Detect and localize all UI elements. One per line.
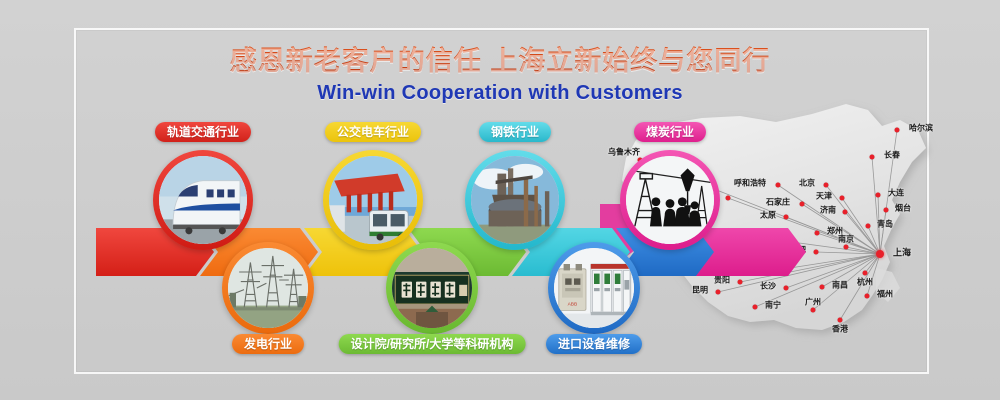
industry-circle-bus[interactable] bbox=[323, 150, 423, 250]
city-dot-hub bbox=[876, 250, 884, 258]
industry-photo-steel bbox=[471, 156, 559, 244]
city-label-hub: 上海 bbox=[893, 246, 911, 259]
bus-china-pavilion-photo bbox=[329, 156, 417, 244]
city-dot bbox=[726, 196, 731, 201]
city-label: 南京 bbox=[838, 234, 854, 245]
industry-circle-steel[interactable] bbox=[465, 150, 565, 250]
industry-label-bus: 公交电车行业 bbox=[325, 122, 421, 142]
banner-titles: 感恩新老客户的信任 上海立新始终与您同行 Win-win Cooperation… bbox=[0, 44, 1000, 105]
city-dot bbox=[863, 271, 868, 276]
city-label: 济南 bbox=[820, 205, 836, 216]
city-label: 长沙 bbox=[760, 281, 776, 292]
industry-photo-rail-transit bbox=[159, 156, 247, 244]
city-label: 北京 bbox=[799, 178, 815, 189]
industry-label-steel: 钢铁行业 bbox=[479, 122, 551, 142]
page-title-cn: 感恩新老客户的信任 上海立新始终与您同行 bbox=[0, 44, 1000, 78]
city-label: 石家庄 bbox=[766, 197, 790, 208]
industry-label-power: 发电行业 bbox=[232, 334, 304, 354]
power-transmission-towers-photo bbox=[228, 248, 308, 328]
city-label: 广州 bbox=[805, 297, 821, 308]
city-dot bbox=[815, 231, 820, 236]
city-dot bbox=[800, 202, 805, 207]
city-label: 大连 bbox=[888, 188, 904, 199]
city-dot bbox=[843, 210, 848, 215]
city-label: 南宁 bbox=[765, 300, 781, 311]
city-dot bbox=[753, 305, 758, 310]
city-label: 太原 bbox=[760, 210, 776, 221]
industry-label-rail-transit: 轨道交通行业 bbox=[155, 122, 251, 142]
promo-banner: 哈尔滨 长春 乌鲁木齐 呼和浩特 北京 天津 大连 银川 石家庄 济南 烟台 太… bbox=[0, 0, 1000, 400]
city-dot bbox=[870, 155, 875, 160]
city-dot bbox=[820, 285, 825, 290]
city-label: 贵阳 bbox=[714, 275, 730, 286]
industry-circle-import-repair[interactable]: ABB bbox=[548, 242, 640, 334]
city-label: 呼和浩特 bbox=[734, 178, 766, 189]
train-photo bbox=[159, 156, 247, 244]
city-dot bbox=[838, 318, 843, 323]
city-label: 长春 bbox=[884, 150, 900, 161]
city-label: 青岛 bbox=[877, 219, 893, 230]
university-sign-photo bbox=[392, 248, 472, 328]
industry-label-coal: 煤炭行业 bbox=[634, 122, 706, 142]
city-label: 福州 bbox=[877, 289, 893, 300]
industry-label-import-repair: 进口设备维修 bbox=[546, 334, 642, 354]
page-title-en: Win-win Cooperation with Customers bbox=[0, 81, 1000, 105]
industry-photo-power bbox=[228, 248, 308, 328]
city-dot bbox=[814, 250, 819, 255]
city-dot bbox=[840, 196, 845, 201]
industry-photo-research bbox=[392, 248, 472, 328]
city-dot bbox=[895, 128, 900, 133]
city-label: 天津 bbox=[816, 191, 832, 202]
city-dot bbox=[866, 224, 871, 229]
city-dot bbox=[876, 193, 881, 198]
city-label: 昆明 bbox=[692, 285, 708, 296]
blast-furnace-photo bbox=[471, 156, 559, 244]
city-label: 烟台 bbox=[895, 203, 911, 214]
industry-photo-import-repair: ABB bbox=[554, 248, 634, 328]
city-label: 哈尔滨 bbox=[909, 123, 933, 134]
city-dot bbox=[716, 290, 721, 295]
industry-circle-research[interactable] bbox=[386, 242, 478, 334]
industry-photo-coal bbox=[626, 156, 714, 244]
city-label: 杭州 bbox=[857, 277, 873, 288]
city-dot bbox=[884, 208, 889, 213]
city-dot bbox=[865, 294, 870, 299]
city-dot bbox=[824, 183, 829, 188]
city-label: 南昌 bbox=[832, 280, 848, 291]
coal-mine-derrick-photo bbox=[626, 156, 714, 244]
city-label: 香港 bbox=[832, 324, 848, 335]
industry-circle-coal[interactable] bbox=[620, 150, 720, 250]
switchgear-cabinet-photo: ABB bbox=[554, 248, 634, 328]
industry-photo-bus bbox=[329, 156, 417, 244]
city-dot bbox=[844, 245, 849, 250]
city-dot bbox=[811, 308, 816, 313]
industry-circle-rail-transit[interactable] bbox=[153, 150, 253, 250]
city-dot bbox=[784, 215, 789, 220]
city-dot bbox=[784, 286, 789, 291]
city-dot bbox=[738, 280, 743, 285]
svg-text:ABB: ABB bbox=[568, 302, 578, 308]
industry-circle-power[interactable] bbox=[222, 242, 314, 334]
city-dot bbox=[776, 183, 781, 188]
industry-label-research: 设计院/研究所/大学等科研机构 bbox=[339, 334, 526, 354]
